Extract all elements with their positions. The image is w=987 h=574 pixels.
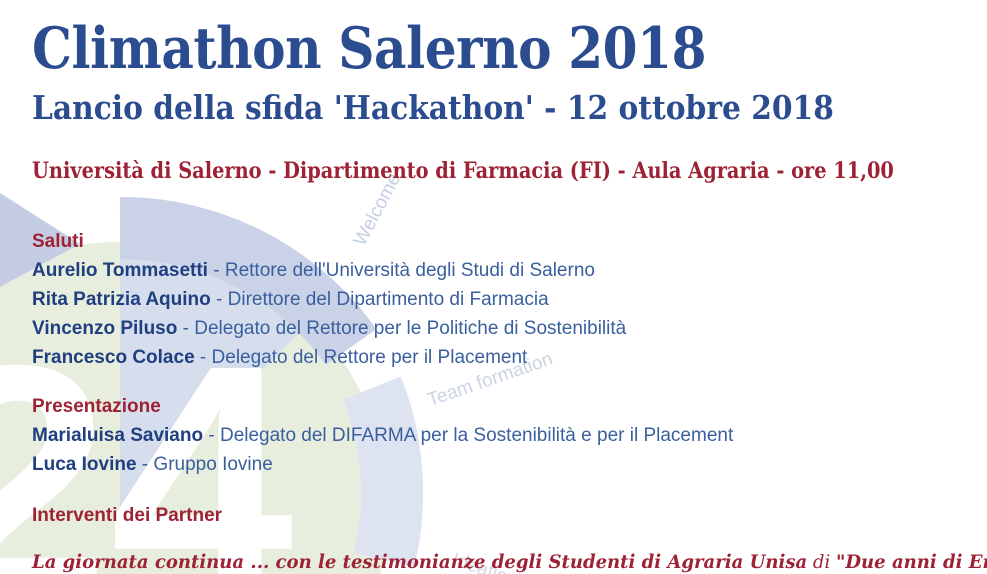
person-separator: - [195, 347, 212, 368]
list-item: Francesco Colace - Delegato del Rettore … [32, 338, 987, 367]
person-role: Rettore dell'Università degli Studi di S… [225, 260, 595, 281]
poster-content: Climathon Salerno 2018 Lancio della sfid… [0, 0, 987, 572]
person-separator: - [211, 289, 228, 310]
section-heading-interventi-dei-partner: Interventi dei Partner [32, 474, 987, 525]
person-name: Francesco Colace [32, 347, 195, 368]
closing-bold-after: "Due anni di Erasmus [836, 551, 987, 573]
list-item: Rita Patrizia Aquino - Direttore del Dip… [32, 280, 987, 309]
section-heading-saluti: Saluti [32, 182, 987, 251]
section-heading-presentazione: Presentazione [32, 367, 987, 416]
person-role: Delegato del Rettore per le Politiche di… [194, 318, 626, 339]
list-item: Luca Iovine - Gruppo Iovine [32, 445, 987, 474]
poster-title: Climathon Salerno 2018 [32, 0, 872, 77]
person-role: Delegato del Rettore per il Placement [212, 347, 528, 368]
poster-subtitle: Lancio della sfida 'Hackathon' - 12 otto… [32, 77, 892, 124]
person-name: Rita Patrizia Aquino [32, 289, 211, 310]
closing-line: La giornata continua ... con le testimon… [32, 525, 939, 572]
person-role: Direttore del Dipartimento di Farmacia [228, 289, 549, 310]
person-separator: - [203, 425, 220, 446]
person-separator: - [137, 454, 154, 475]
person-name: Marialuisa Saviano [32, 425, 203, 446]
person-separator: - [177, 318, 194, 339]
list-item: Vincenzo Piluso - Delegato del Rettore p… [32, 309, 987, 338]
poster-canvas: 24 HOURS Welcome Team formation Ideation… [0, 0, 987, 574]
list-item: Marialuisa Saviano - Delegato del DIFARM… [32, 416, 987, 445]
list-item: Aurelio Tommasetti - Rettore dell'Univer… [32, 251, 987, 280]
person-name: Luca Iovine [32, 454, 137, 475]
person-role: Gruppo Iovine [153, 454, 272, 475]
closing-light-middle: di [807, 551, 836, 573]
person-name: Aurelio Tommasetti [32, 260, 208, 281]
person-separator: - [208, 260, 225, 281]
closing-bold-before: La giornata continua ... con le testimon… [32, 551, 807, 573]
person-role: Delegato del DIFARMA per la Sostenibilit… [220, 425, 733, 446]
poster-venue-line: Università di Salerno - Dipartimento di … [32, 124, 872, 182]
person-name: Vincenzo Piluso [32, 318, 177, 339]
